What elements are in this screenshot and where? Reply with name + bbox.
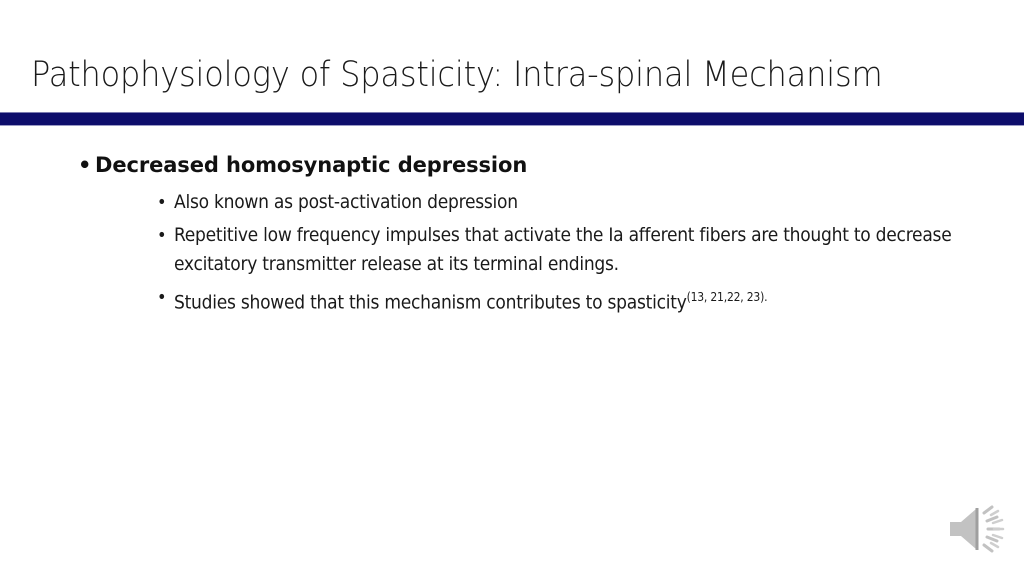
speaker-icon[interactable] bbox=[946, 503, 1008, 555]
title-area: Pathophysiology of Spasticity: Intra-spi… bbox=[0, 52, 1024, 112]
bullet-level2-text: Studies showed that this mechanism contr… bbox=[174, 291, 687, 313]
bullet-level1-text: Decreased homosynaptic depression bbox=[95, 153, 527, 177]
bullet-level2: • Studies showed that this mechanism con… bbox=[0, 283, 1024, 317]
bullet-level2-text: Also known as post-activation depression bbox=[174, 191, 518, 213]
title-divider-bar bbox=[0, 112, 1024, 126]
bullet-level2-text: Repetitive low frequency impulses that a… bbox=[174, 224, 951, 275]
bullet-level2: • Also known as post-activation depressi… bbox=[0, 188, 1024, 217]
bullet-marker-icon: • bbox=[157, 283, 166, 312]
body-content: • Decreased homosynaptic depression • Al… bbox=[0, 150, 1024, 321]
bullet-marker-icon: • bbox=[157, 221, 166, 250]
bullet-marker-icon: • bbox=[78, 150, 91, 180]
bullet-level2: • Repetitive low frequency impulses that… bbox=[0, 221, 1024, 279]
slide: Pathophysiology of Spasticity: Intra-spi… bbox=[0, 0, 1024, 576]
bullet-level1: • Decreased homosynaptic depression bbox=[0, 150, 1024, 180]
citation-reference: (13, 21,22, 23). bbox=[687, 290, 768, 304]
page-title: Pathophysiology of Spasticity: Intra-spi… bbox=[31, 52, 882, 98]
bullet-marker-icon: • bbox=[157, 188, 166, 217]
